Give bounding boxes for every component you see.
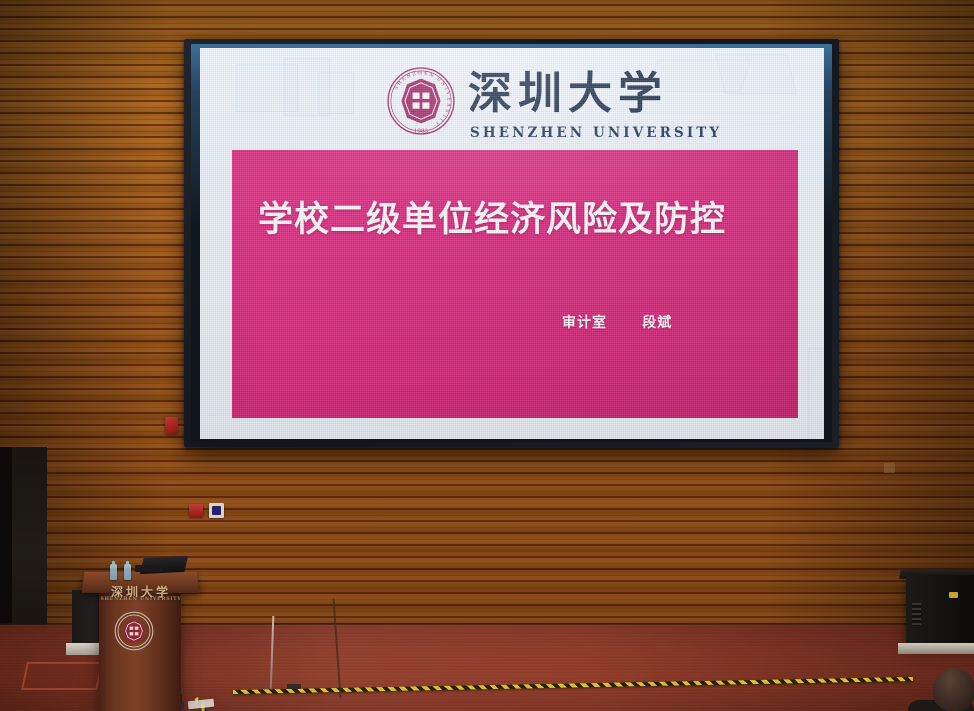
fire-alarm-pull-station-icon[interactable] <box>189 504 203 517</box>
slide-header-logo: · · · 1983 S H E N Z H E N U N I V E R <box>386 66 816 162</box>
doorway-jamb <box>0 447 12 625</box>
svg-text:N: N <box>406 73 412 80</box>
svg-text:V: V <box>444 90 451 96</box>
water-bottle <box>124 564 131 580</box>
water-bottle <box>110 564 117 580</box>
led-display-screen[interactable]: · · · 1983 S H E N Z H E N U N I V E R <box>200 48 824 439</box>
floor-access-hatch <box>21 662 103 690</box>
lectern-seal-icon <box>114 611 154 651</box>
lectern-label-en: SHENZHEN UNIVERSITY <box>97 597 185 602</box>
slide-title: 学校二级单位经济风险及防控 <box>258 200 768 240</box>
svg-text:I: I <box>443 87 449 91</box>
floor-equipment <box>287 684 301 689</box>
fire-alarm-strobe-icon <box>165 417 178 434</box>
svg-text:E: E <box>424 71 428 77</box>
watermark-shape <box>318 72 354 114</box>
svg-text:N: N <box>428 72 434 79</box>
svg-text:E: E <box>445 97 451 101</box>
svg-text:H: H <box>418 70 422 76</box>
watermark-shape <box>808 348 824 439</box>
shenzhen-university-seal-icon: · · · 1983 S H E N Z H E N U N I V E R <box>386 66 456 136</box>
university-name-cn: 深圳大学 <box>468 72 668 116</box>
loudspeaker-badge <box>949 592 958 598</box>
wall-switch-plate[interactable] <box>209 503 224 518</box>
university-name-en: SHENZHEN UNIVERSITY <box>470 125 722 141</box>
loudspeaker-port <box>912 603 921 626</box>
loudspeaker-plinth <box>898 643 974 654</box>
svg-text:1983: 1983 <box>414 129 429 135</box>
svg-text:R: R <box>445 103 451 108</box>
slide-presenter: 审计室 段斌 <box>562 312 672 332</box>
audience-member-head <box>933 668 974 711</box>
microphone-base <box>135 565 163 572</box>
svg-text:N: N <box>439 81 446 88</box>
wall-outlet-plate <box>884 463 895 473</box>
lecture-hall-photo: · · · 1983 S H E N Z H E N U N I V E R <box>0 0 974 711</box>
slide-title-banner: 学校二级单位经济风险及防控 审计室 段斌 <box>232 150 798 418</box>
